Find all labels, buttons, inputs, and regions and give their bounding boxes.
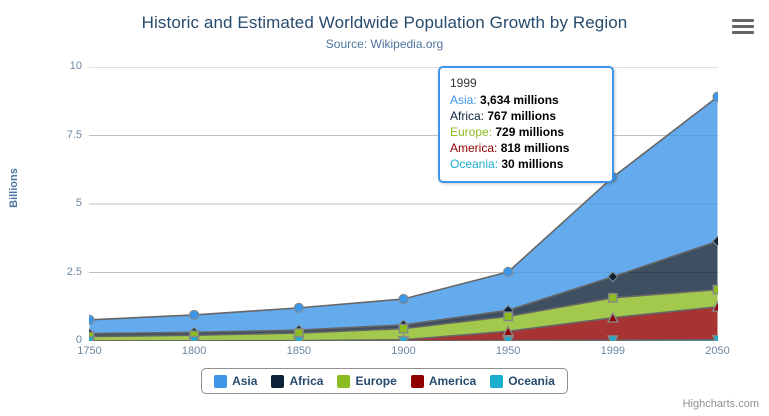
tooltip-series-name: Europe: [450, 125, 495, 139]
x-tick-label: 1850 [264, 345, 334, 357]
plot-svg [89, 67, 718, 341]
point-oceania-1950 [503, 336, 513, 341]
tooltip-series-name: America: [450, 141, 501, 155]
legend-swatch-icon [271, 375, 284, 388]
x-axis-labels: 1750180018501900195019992050 [89, 345, 718, 361]
legend-item-america[interactable]: America [411, 374, 476, 388]
tooltip-series-name: Oceania: [450, 157, 501, 171]
legend-label: Asia [232, 374, 257, 388]
point-europe-1999 [609, 294, 617, 302]
point-asia-1750 [89, 315, 94, 324]
x-tick-label: 1900 [369, 345, 439, 357]
point-asia-1900 [399, 294, 408, 303]
legend-label: America [429, 374, 476, 388]
point-oceania-1800 [189, 337, 199, 341]
tooltip-series-value: 767 millions [487, 109, 556, 123]
tooltip-series-value: 3,634 millions [480, 93, 559, 107]
legend-swatch-icon [214, 375, 227, 388]
legend-item-oceania[interactable]: Oceania [490, 374, 555, 388]
legend-box: AsiaAfricaEuropeAmericaOceania [201, 368, 568, 394]
legend-swatch-icon [411, 375, 424, 388]
point-oceania-1900 [399, 337, 409, 341]
tooltip-row: Europe: 729 millions [450, 124, 602, 140]
chart-title: Historic and Estimated Worldwide Populat… [0, 13, 769, 33]
y-tick-label: 5 [42, 198, 82, 209]
legend-label: Africa [289, 374, 323, 388]
y-axis-title: Billions [8, 148, 20, 228]
highcharts-container: Historic and Estimated Worldwide Populat… [0, 0, 769, 416]
tooltip-series-name: Asia: [450, 93, 480, 107]
point-asia-1850 [294, 303, 303, 312]
tooltip-row: America: 818 millions [450, 140, 602, 156]
tooltip-rows: Asia: 3,634 millionsAfrica: 767 millions… [450, 92, 602, 172]
legend-item-asia[interactable]: Asia [214, 374, 257, 388]
tooltip-header: 1999 [450, 76, 602, 92]
point-asia-1950 [504, 267, 513, 276]
legend-label: Europe [355, 374, 396, 388]
point-europe-1900 [399, 324, 407, 332]
x-tick-label: 1999 [578, 345, 648, 357]
hamburger-menu-icon[interactable] [731, 16, 755, 38]
legend: AsiaAfricaEuropeAmericaOceania [0, 368, 769, 394]
menu-bar-3 [732, 31, 754, 34]
tooltip-series-value: 30 millions [501, 157, 563, 171]
tooltip-row: Africa: 767 millions [450, 108, 602, 124]
tooltip-row: Oceania: 30 millions [450, 156, 602, 172]
tooltip: 1999 Asia: 3,634 millionsAfrica: 767 mil… [438, 66, 614, 183]
legend-swatch-icon [490, 375, 503, 388]
credits-link[interactable]: Highcharts.com [683, 398, 759, 410]
y-tick-label: 10 [42, 61, 82, 72]
plot-area [89, 67, 718, 341]
menu-bar-2 [732, 25, 754, 28]
tooltip-series-name: Africa: [450, 109, 487, 123]
x-tick-label: 1950 [473, 345, 543, 357]
legend-item-europe[interactable]: Europe [337, 374, 396, 388]
x-tick-label: 1750 [55, 345, 125, 357]
point-asia-1800 [190, 310, 199, 319]
chart-subtitle: Source: Wikipedia.org [0, 37, 769, 51]
tooltip-row: Asia: 3,634 millions [450, 92, 602, 108]
legend-label: Oceania [508, 374, 555, 388]
x-tick-label: 2050 [683, 345, 753, 357]
tooltip-series-value: 729 millions [495, 125, 564, 139]
y-tick-label: 2.5 [42, 267, 82, 278]
y-tick-label: 7.5 [42, 130, 82, 141]
point-europe-1950 [504, 312, 512, 320]
point-oceania-1850 [294, 337, 304, 341]
legend-item-africa[interactable]: Africa [271, 374, 323, 388]
legend-swatch-icon [337, 375, 350, 388]
x-tick-label: 1800 [159, 345, 229, 357]
tooltip-series-value: 818 millions [501, 141, 570, 155]
menu-bar-1 [732, 19, 754, 22]
point-asia-2050 [713, 92, 718, 101]
point-europe-2050 [713, 285, 718, 293]
